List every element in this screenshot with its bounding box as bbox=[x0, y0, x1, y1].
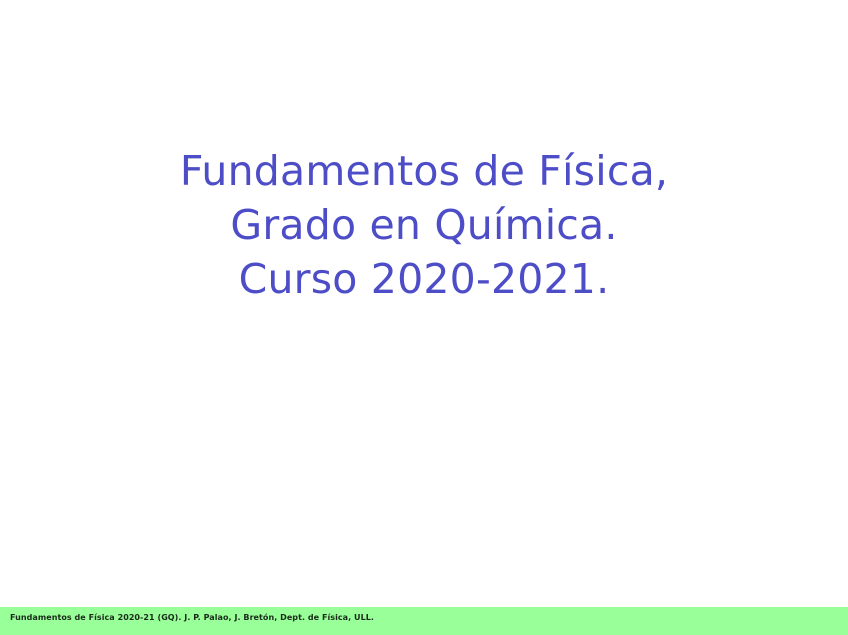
title-line-2: Grado en Química. bbox=[0, 198, 848, 252]
presentation-slide: Fundamentos de Física, Grado en Química.… bbox=[0, 0, 848, 635]
slide-content-area: Fundamentos de Física, Grado en Química.… bbox=[0, 0, 848, 607]
title-line-1: Fundamentos de Física, bbox=[0, 144, 848, 198]
footer-attribution-text: Fundamentos de Física 2020-21 (GQ). J. P… bbox=[10, 612, 374, 624]
slide-footer-bar: Fundamentos de Física 2020-21 (GQ). J. P… bbox=[0, 607, 848, 635]
slide-title-block: Fundamentos de Física, Grado en Química.… bbox=[0, 144, 848, 306]
title-line-3: Curso 2020-2021. bbox=[0, 252, 848, 306]
